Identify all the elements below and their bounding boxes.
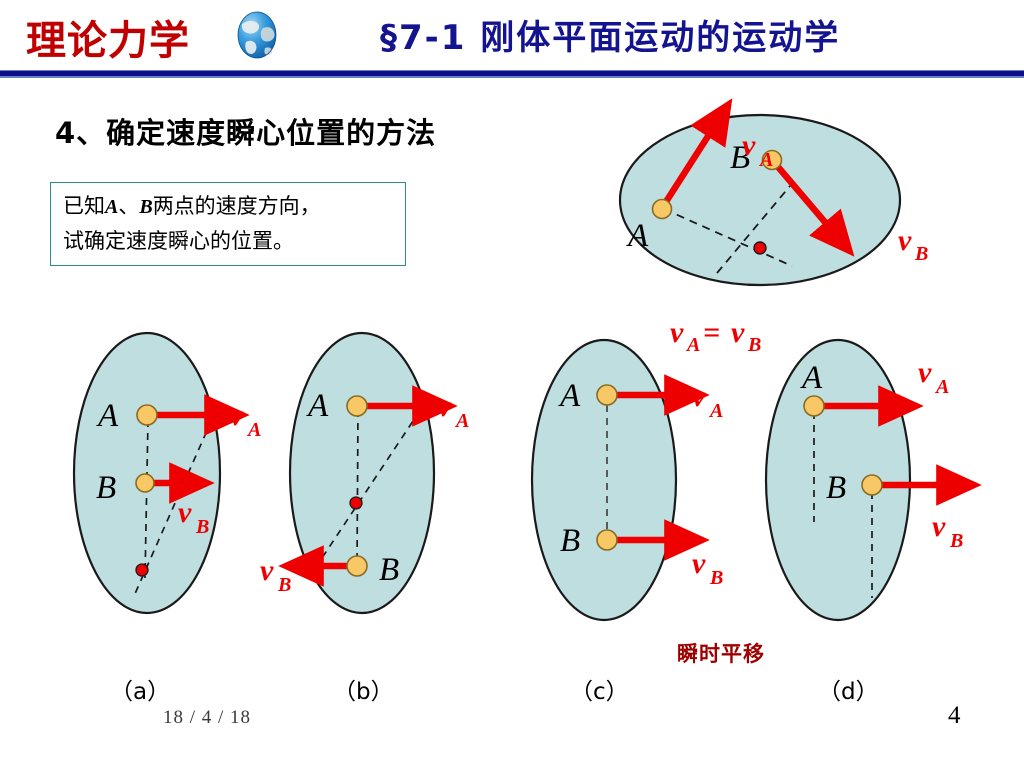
point-b-marker — [862, 475, 882, 495]
given-point-a: A — [105, 196, 118, 218]
label-point-a: A — [626, 218, 649, 254]
point-b-marker — [136, 474, 154, 492]
footer-date: 18 / 4 / 18 — [163, 707, 251, 729]
label-vb: v — [932, 510, 946, 543]
instant-center-marker — [350, 497, 362, 509]
point-a-marker — [347, 396, 367, 416]
label-point-a: A — [800, 360, 823, 396]
label-point-b: B — [826, 470, 846, 506]
given-pre: 已知 — [63, 194, 105, 218]
point-a-marker — [597, 385, 617, 405]
globe-icon — [232, 10, 282, 60]
given-condition-box: 已知A、B两点的速度方向， 试确定速度瞬心的位置。 — [50, 182, 406, 266]
point-a-marker — [653, 200, 672, 219]
given-point-b: B — [139, 196, 152, 218]
slide-header: 理论力学 §7-1 刚体平面运动的运动学 — [0, 0, 1024, 72]
label-eq-sign: = — [703, 316, 720, 349]
figure-a: A B v A v B — [60, 328, 290, 618]
label-vb-sub: B — [195, 516, 209, 538]
label-vb: v — [178, 496, 192, 529]
point-b-marker — [597, 530, 617, 550]
point-b-marker — [347, 556, 367, 576]
slide-canvas: 理论力学 §7-1 刚体平面运动的运动学 4、确定速度瞬心位置的方法 已知A、B… — [0, 0, 1024, 768]
label-va: v — [742, 129, 756, 162]
label-point-a: A — [558, 378, 581, 414]
label-va-sub: A — [246, 419, 261, 441]
header-divider-inner — [0, 71, 1024, 76]
figure-d: A B v A v B — [756, 320, 1006, 620]
rigid-body-outline — [532, 340, 676, 620]
instant-center-marker — [136, 564, 148, 576]
label-va: v — [692, 380, 706, 413]
label-va: v — [438, 390, 452, 423]
label-point-b: B — [96, 470, 116, 506]
page-title: §7-1 刚体平面运动的运动学 — [380, 10, 840, 59]
instant-center-marker — [754, 242, 766, 254]
label-vb-sub: B — [914, 243, 928, 265]
label-vb-sub: B — [709, 567, 723, 589]
page-number: 4 — [948, 702, 961, 730]
point-a-marker — [137, 405, 157, 425]
given-line-2: 试确定速度瞬心的位置。 — [63, 224, 395, 258]
label-point-b: B — [560, 523, 580, 559]
label-va: v — [230, 399, 244, 432]
figure-top-general: A B v A v B — [612, 108, 932, 298]
label-va: v — [918, 356, 932, 389]
given-mid: 、 — [118, 194, 139, 218]
label-point-a: A — [96, 398, 119, 434]
point-a-marker — [804, 396, 824, 416]
caption-c: （c） — [570, 672, 629, 706]
section-heading: 4、确定速度瞬心位置的方法 — [55, 110, 436, 152]
given-line-1: 已知A、B两点的速度方向， — [63, 189, 395, 224]
translation-note: 瞬时平移 — [677, 638, 765, 668]
label-vb: v — [692, 547, 706, 580]
figure-c: A B v A v B v A = v B — [526, 320, 776, 620]
given-post: 两点的速度方向， — [153, 194, 321, 218]
label-va-sub: A — [454, 410, 469, 432]
figure-b: A B v A v B — [286, 328, 526, 618]
label-vb: v — [260, 554, 274, 587]
label-va-sub: A — [758, 149, 773, 171]
label-vb-sub: B — [277, 574, 291, 596]
label-va-sub: A — [708, 400, 723, 422]
label-point-a: A — [306, 388, 329, 424]
label-eq-vb: v — [731, 316, 745, 349]
label-point-b: B — [379, 552, 399, 588]
caption-a: （a） — [110, 672, 170, 706]
label-va-sub: A — [934, 376, 949, 398]
caption-b: （b） — [333, 672, 394, 706]
label-vb-sub: B — [949, 530, 963, 552]
course-logo-text: 理论力学 — [26, 8, 190, 66]
caption-d: （d） — [818, 672, 879, 706]
label-eq-va: v — [670, 316, 684, 349]
label-vb: v — [898, 224, 912, 257]
label-eq-va-sub: A — [685, 334, 700, 356]
